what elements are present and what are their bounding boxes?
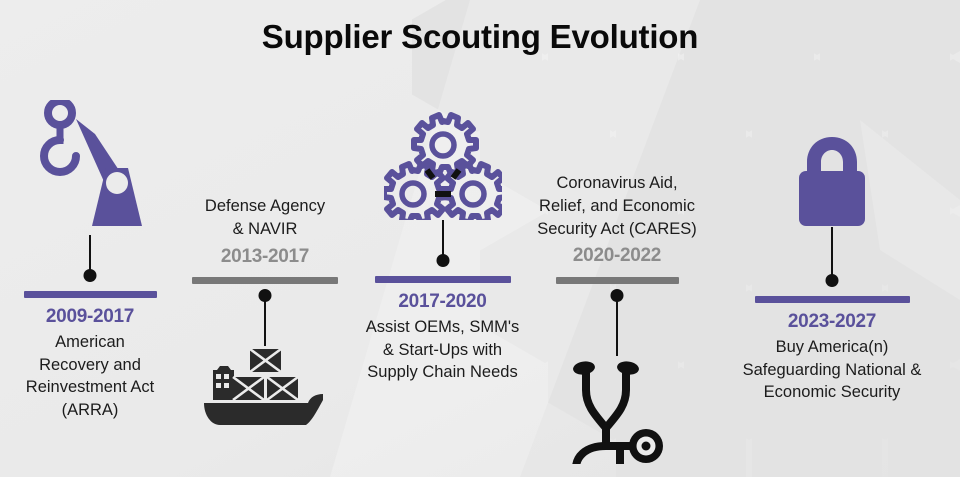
milestone-description: Coronavirus Aid, Relief, and Economic Se… xyxy=(522,172,712,240)
milestone-description: Assist OEMs, SMM's & Start-Ups with Supp… xyxy=(355,316,530,384)
connector-stem xyxy=(831,227,833,282)
connector-line xyxy=(616,294,618,356)
milestone-cares-act[interactable]: Coronavirus Aid, Relief, and Economic Se… xyxy=(522,172,712,464)
milestone-bar xyxy=(24,291,157,298)
milestone-years: 2017-2020 xyxy=(355,290,530,314)
connector-dot xyxy=(84,269,97,282)
connector-stem xyxy=(89,235,91,277)
milestone-arra[interactable]: 2009-2017 American Recovery and Reinvest… xyxy=(10,100,170,422)
stethoscope-icon xyxy=(564,356,670,464)
milestone-description: Defense Agency & NAVIR xyxy=(182,195,348,241)
milestone-description: Buy America(n) Safeguarding National & E… xyxy=(722,336,942,404)
lock-icon xyxy=(789,135,875,227)
connector-stem xyxy=(616,294,618,356)
crane-icon xyxy=(38,100,142,235)
milestone-description: American Recovery and Reinvestment Act (… xyxy=(10,331,170,422)
infographic-canvas: Supplier Scouting Evolution xyxy=(0,0,960,477)
gears-icon xyxy=(384,112,502,220)
connector-stem xyxy=(264,294,266,346)
milestone-years: 2009-2017 xyxy=(10,305,170,329)
milestone-bar xyxy=(192,277,338,284)
page-title: Supplier Scouting Evolution xyxy=(0,18,960,56)
milestone-buy-american[interactable]: 2023-2027 Buy America(n) Safeguarding Na… xyxy=(722,135,942,404)
milestone-assist-oems[interactable]: 2017-2020 Assist OEMs, SMM's & Start-Ups… xyxy=(355,112,530,384)
connector-dot xyxy=(259,289,272,302)
connector-stem xyxy=(442,220,444,262)
milestone-bar xyxy=(556,277,679,284)
milestone-bar xyxy=(375,276,511,283)
milestone-years: 2013-2017 xyxy=(182,245,348,269)
connector-dot xyxy=(611,289,624,302)
connector-dot xyxy=(436,254,449,267)
milestone-bar xyxy=(755,296,910,303)
milestone-years: 2023-2027 xyxy=(722,310,942,334)
milestone-defense-agency-navir[interactable]: Defense Agency & NAVIR 2013-2017 xyxy=(182,195,348,428)
milestone-years: 2020-2022 xyxy=(522,244,712,268)
cargo-ship-icon xyxy=(200,346,330,428)
connector-dot xyxy=(826,274,839,287)
